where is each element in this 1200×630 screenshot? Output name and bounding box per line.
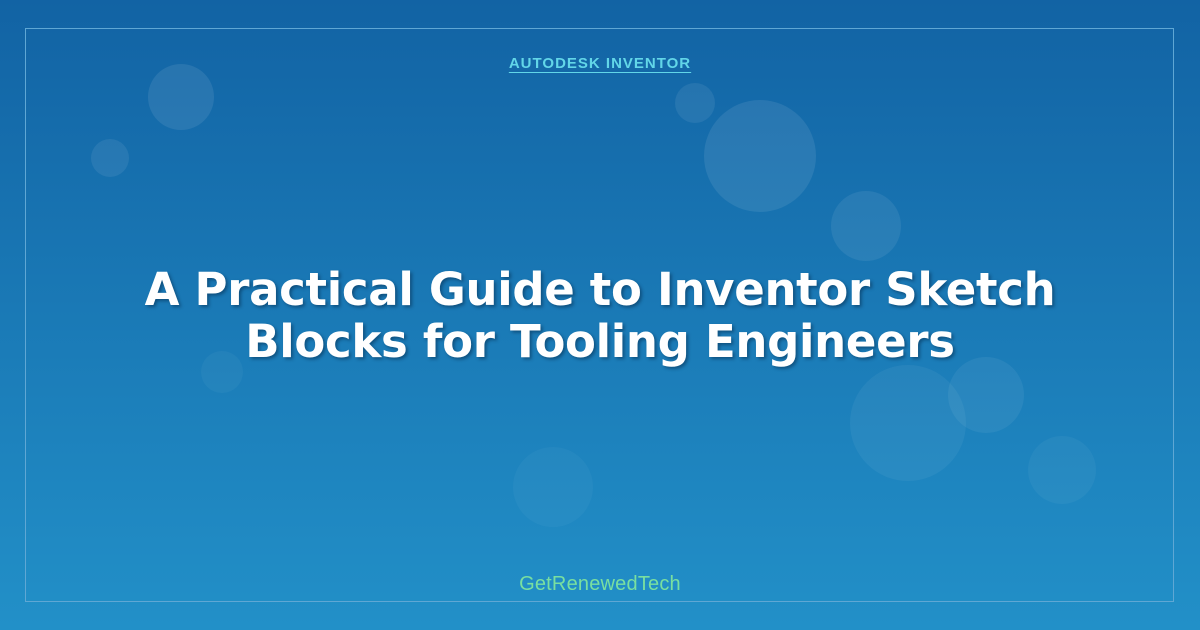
banner-content: AUTODESK INVENTOR A Practical Guide to I… <box>0 0 1200 630</box>
site-brand-footer: GetRenewedTech <box>0 573 1200 596</box>
page-title: A Practical Guide to Inventor Sketch Blo… <box>80 264 1120 368</box>
title-container: A Practical Guide to Inventor Sketch Blo… <box>0 264 1200 368</box>
social-share-banner: AUTODESK INVENTOR A Practical Guide to I… <box>0 0 1200 630</box>
category-eyebrow: AUTODESK INVENTOR <box>509 55 691 72</box>
